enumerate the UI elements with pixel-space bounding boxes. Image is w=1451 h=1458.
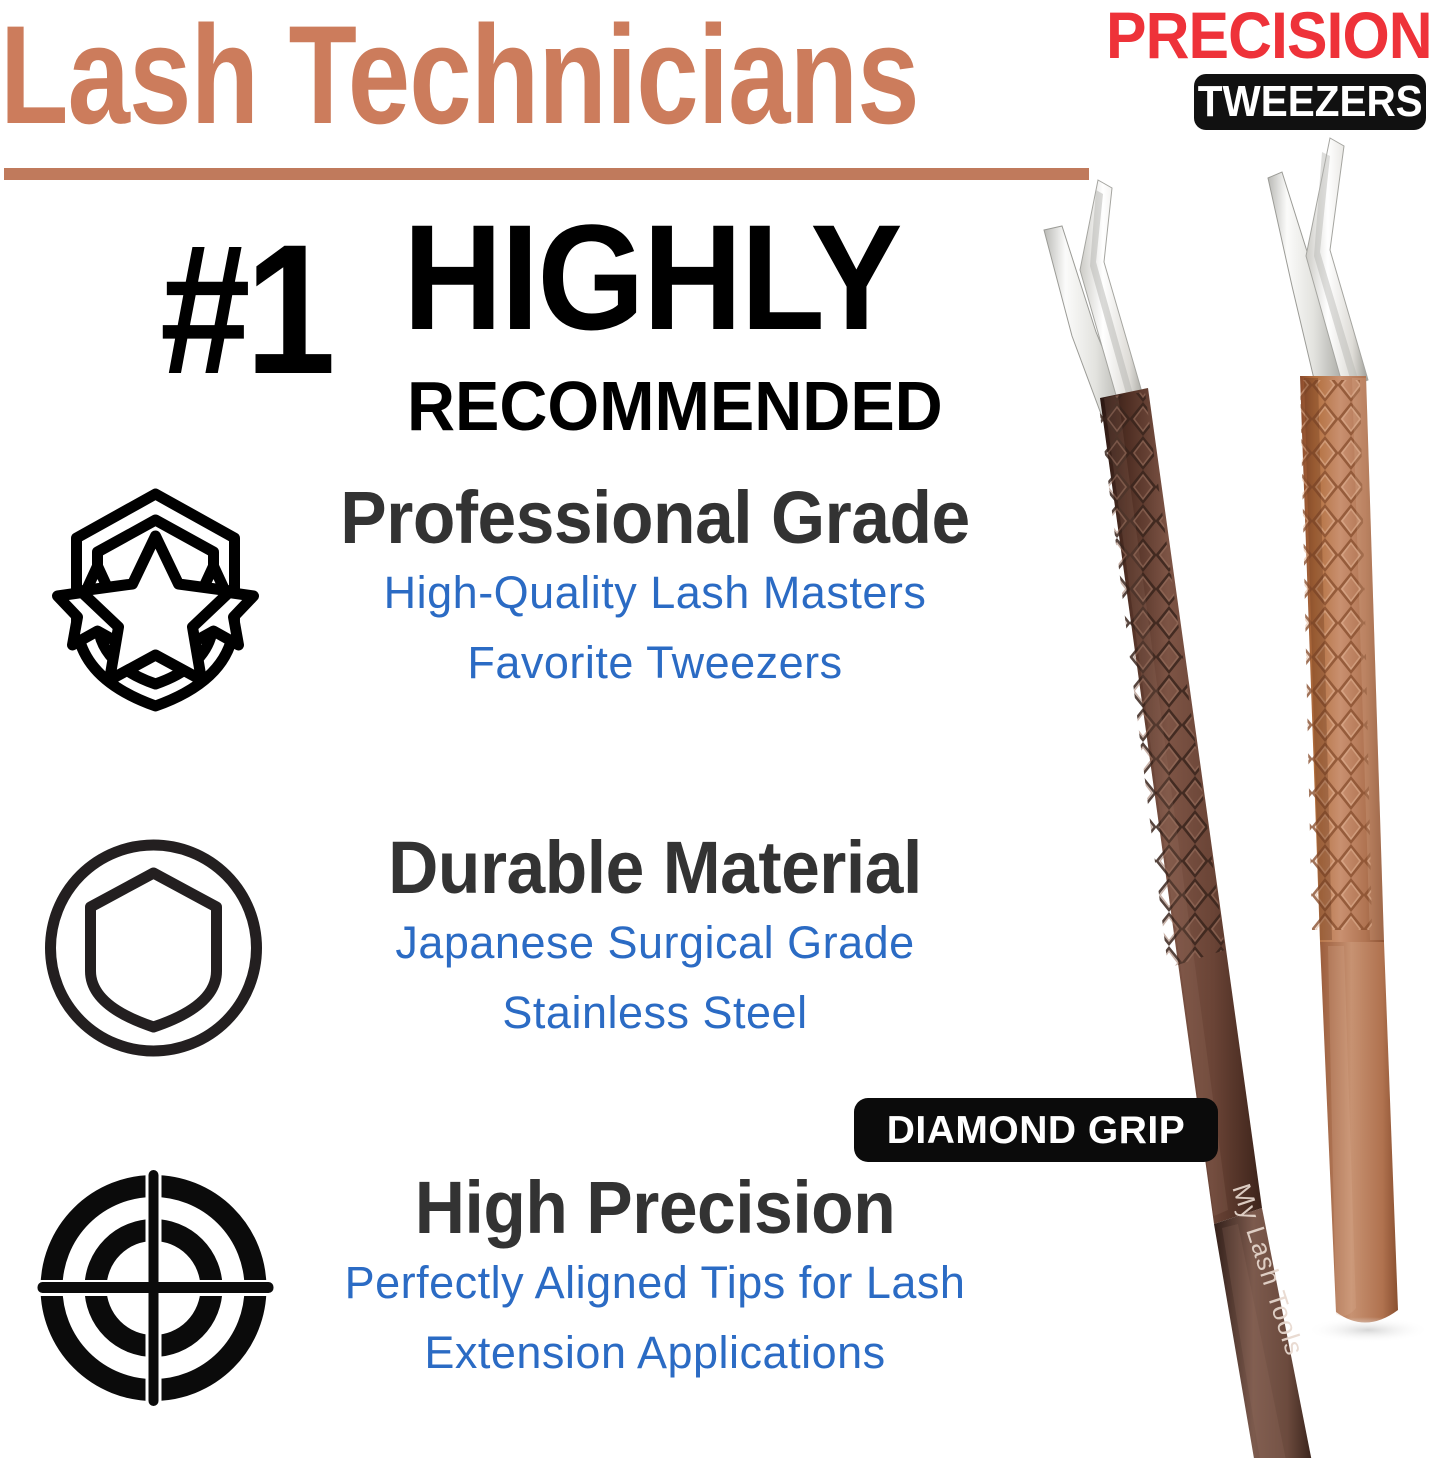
feature-heading: Durable Material [312,828,998,908]
feature-subtext-line-1: Japanese Surgical Grade [290,908,1020,978]
feature-row-durable-material: Durable Material Japanese Surgical Grade… [0,828,1020,1078]
feature-heading: Professional Grade [312,478,998,558]
tweezers-badge: TWEEZERS [1194,74,1426,130]
shield-stars-icon [28,478,283,718]
diamond-grip-badge-label: DIAMOND GRIP [887,1111,1186,1150]
feature-heading: High Precision [312,1168,998,1248]
tweezers-badge-label: TWEEZERS [1198,80,1423,124]
product-infographic: Lash Technicians PRECISION TWEEZERS #1 H… [0,0,1451,1458]
feature-text-professional-grade: Professional Grade High-Quality Lash Mas… [290,478,1020,698]
precision-label: PRECISION [1106,4,1419,66]
recommendation-line-1: HIGHLY [403,202,901,352]
diamond-grip-badge: DIAMOND GRIP [854,1098,1218,1162]
feature-subtext-line-2: Stainless Steel [290,978,1020,1048]
page-title: Lash Technicians [0,2,880,147]
recommendation-line-2: RECOMMENDED [407,371,943,441]
title-underline-rule [4,168,1089,180]
feature-row-professional-grade: Professional Grade High-Quality Lash Mas… [0,478,1020,728]
feature-subtext-line-2: Favorite Tweezers [290,628,1020,698]
crosshair-target-icon [28,1168,283,1408]
feature-text-durable-material: Durable Material Japanese Surgical Grade… [290,828,1020,1048]
feature-subtext-line-1: Perfectly Aligned Tips for Lash [290,1248,1020,1318]
recommendation-block: #1 HIGHLY RECOMMENDED [150,196,930,446]
product-image-tweezers-pair [1000,130,1451,1458]
feature-text-high-precision: High Precision Perfectly Aligned Tips fo… [290,1168,1020,1388]
feature-subtext-line-2: Extension Applications [290,1318,1020,1388]
rank-number: #1 [160,218,331,403]
feature-row-high-precision: High Precision Perfectly Aligned Tips fo… [0,1168,1020,1418]
shield-circle-icon [28,828,283,1068]
feature-subtext-line-1: High-Quality Lash Masters [290,558,1020,628]
